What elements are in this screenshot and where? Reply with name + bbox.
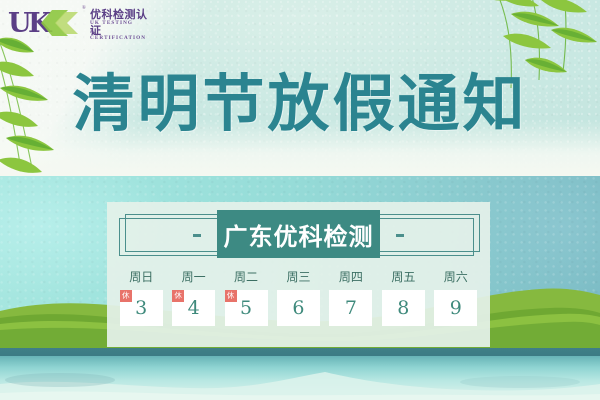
day-box: 休 5 xyxy=(225,290,268,326)
day-number: 3 xyxy=(135,297,147,319)
weekday-label: 周一 xyxy=(167,268,219,285)
water-reflection-icon xyxy=(0,362,600,400)
rest-badge: 休 xyxy=(120,290,132,302)
day-cell: 7 xyxy=(325,290,377,326)
weekday-label: 周日 xyxy=(115,268,167,285)
banner-frame: 广东优科检测 xyxy=(107,214,490,260)
day-cells-row: 休 3 休 4 休 5 6 xyxy=(115,290,482,326)
day-number: 7 xyxy=(345,297,357,319)
rest-badge: 休 xyxy=(172,290,184,302)
day-number: 9 xyxy=(450,297,462,319)
day-box: 7 xyxy=(329,290,372,326)
day-cell: 6 xyxy=(272,290,324,326)
day-cell: 9 xyxy=(430,290,482,326)
weekday-header-row: 周日 周一 周二 周三 周四 周五 周六 xyxy=(115,268,482,285)
holiday-calendar-card: 广东优科检测 周日 周一 周二 周三 周四 周五 周六 休 3 休 4 xyxy=(107,202,490,347)
day-box: 休 3 xyxy=(120,290,163,326)
poster-canvas: U K ® 优科检测认证 UK TESTING & CERTIFICATION … xyxy=(0,0,600,400)
day-number: 6 xyxy=(292,297,304,319)
weekday-label: 周四 xyxy=(325,268,377,285)
company-banner: 广东优科检测 xyxy=(217,210,380,258)
day-cell: 8 xyxy=(377,290,429,326)
trademark-symbol: ® xyxy=(82,6,86,11)
weekday-label: 周六 xyxy=(430,268,482,285)
day-cell: 休 5 xyxy=(220,290,272,326)
ukc-logo-mark-icon: U K xyxy=(8,6,86,40)
weekday-label: 周五 xyxy=(377,268,429,285)
page-title: 清明节放假通知 xyxy=(0,68,600,140)
day-number: 5 xyxy=(240,297,252,319)
day-cell: 休 3 xyxy=(115,290,167,326)
day-box: 8 xyxy=(382,290,425,326)
day-box: 9 xyxy=(434,290,477,326)
day-box: 6 xyxy=(277,290,320,326)
day-cell: 休 4 xyxy=(167,290,219,326)
weekday-label: 周二 xyxy=(220,268,272,285)
brand-name-en-line1: UK TESTING xyxy=(90,20,133,26)
frame-dash-right-icon xyxy=(396,234,404,237)
day-number: 8 xyxy=(397,297,409,319)
rest-badge: 休 xyxy=(225,290,237,302)
brand-logo: U K ® 优科检测认证 UK TESTING & CERTIFICATION xyxy=(8,4,148,44)
brand-name-en-line2: & CERTIFICATION xyxy=(90,29,148,41)
day-number: 4 xyxy=(188,297,200,319)
weekday-label: 周三 xyxy=(272,268,324,285)
frame-dash-left-icon xyxy=(193,234,201,237)
day-box: 休 4 xyxy=(172,290,215,326)
